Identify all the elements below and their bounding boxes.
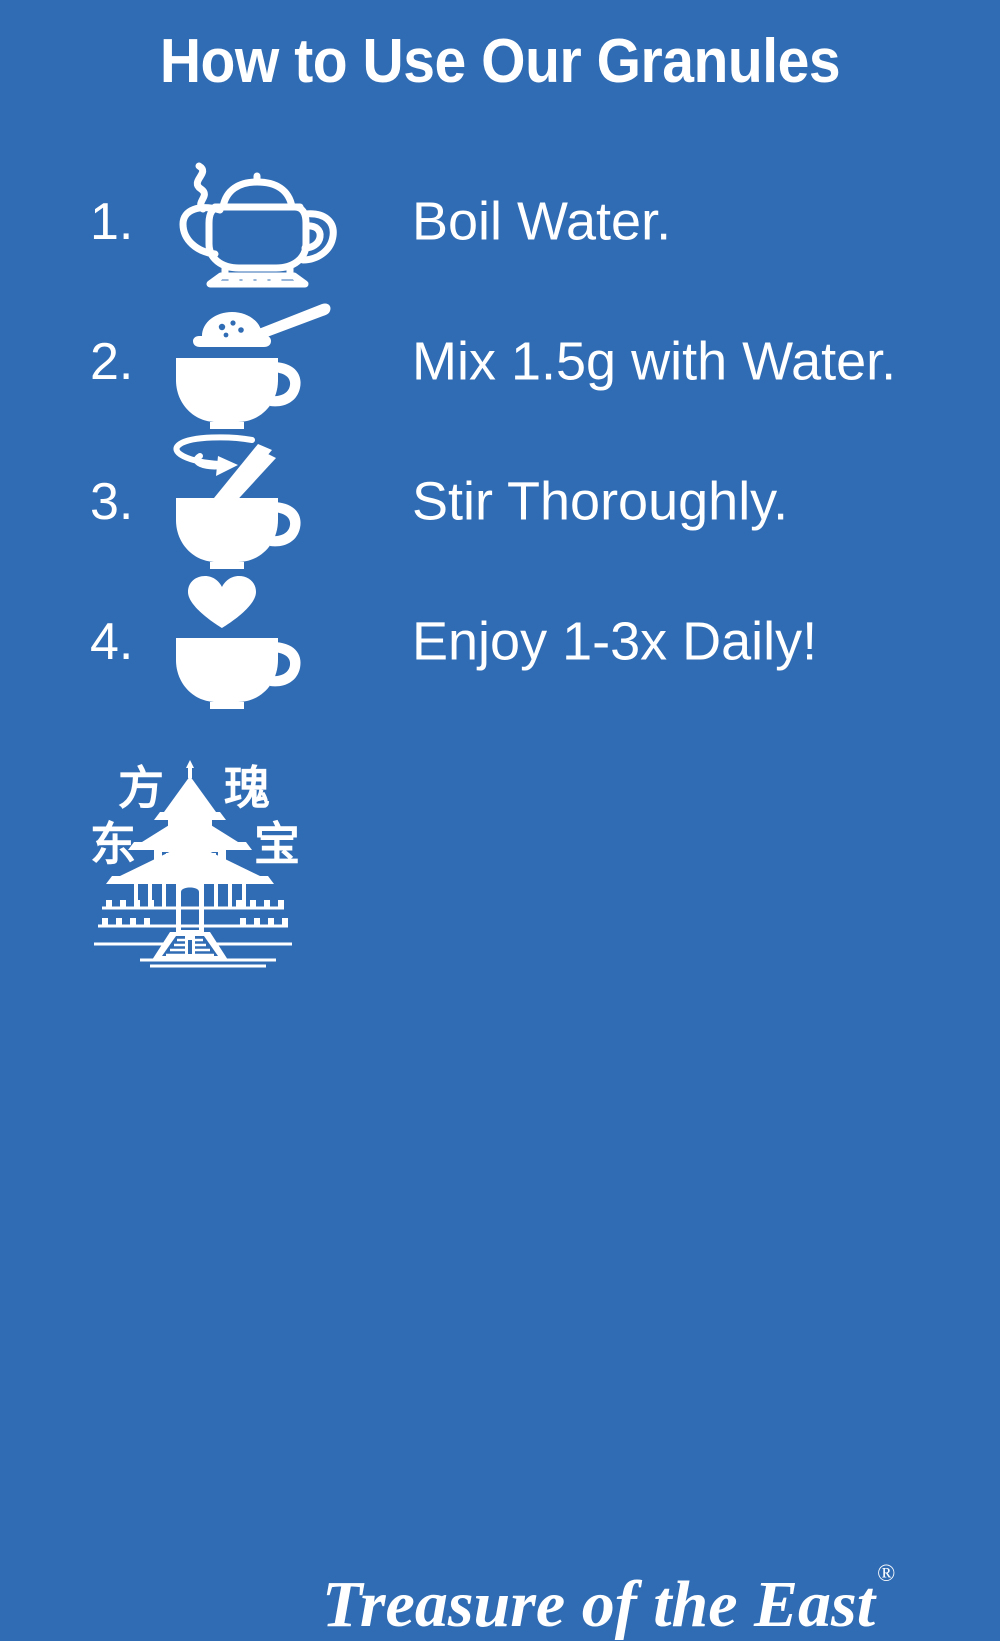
- logo-char-bottom-left: 东: [90, 817, 136, 871]
- step-number-2: 2.: [90, 336, 160, 388]
- brand-footer: 方 瑰 东 宝: [0, 750, 1000, 980]
- temple-of-heaven-logo: 方 瑰 东 宝: [88, 750, 328, 970]
- step-label-3: Stir Thoroughly.: [412, 474, 788, 531]
- logo-char-bottom-right: 宝: [254, 817, 300, 871]
- step-number-4: 4.: [90, 616, 160, 668]
- brand-name-text: Treasure of the East: [322, 1568, 875, 1641]
- steps-list: 1.: [0, 152, 1000, 712]
- step-number-3: 3.: [90, 476, 160, 528]
- step-label-1: Boil Water.: [412, 194, 671, 251]
- logo-char-top-left: 方: [118, 761, 164, 815]
- cup-with-heart-icon: [160, 572, 345, 712]
- step-item-1: 1.: [0, 152, 1000, 292]
- step-item-3: 3.: [0, 432, 1000, 572]
- step-label-2: Mix 1.5g with Water.: [412, 334, 896, 391]
- step-item-2: 2.: [0, 292, 1000, 432]
- step-label-4: Enjoy 1-3x Daily!: [412, 614, 817, 671]
- step-item-4: 4. Enjoy 1-3x Daily!: [0, 572, 1000, 712]
- registered-trademark-icon: ®: [877, 1561, 895, 1587]
- logo-char-top-right: 瑰: [224, 761, 270, 815]
- cup-with-spoon-of-granules-icon: [160, 292, 345, 432]
- teapot-icon: [160, 152, 345, 292]
- cup-with-stirring-arrow-icon: [160, 432, 345, 572]
- brand-name: Treasure of the East®: [322, 1572, 893, 1638]
- poster-canvas: How to Use Our Granules 1.: [0, 0, 1000, 1000]
- step-number-1: 1.: [90, 196, 160, 248]
- page-title: How to Use Our Granules: [40, 26, 960, 97]
